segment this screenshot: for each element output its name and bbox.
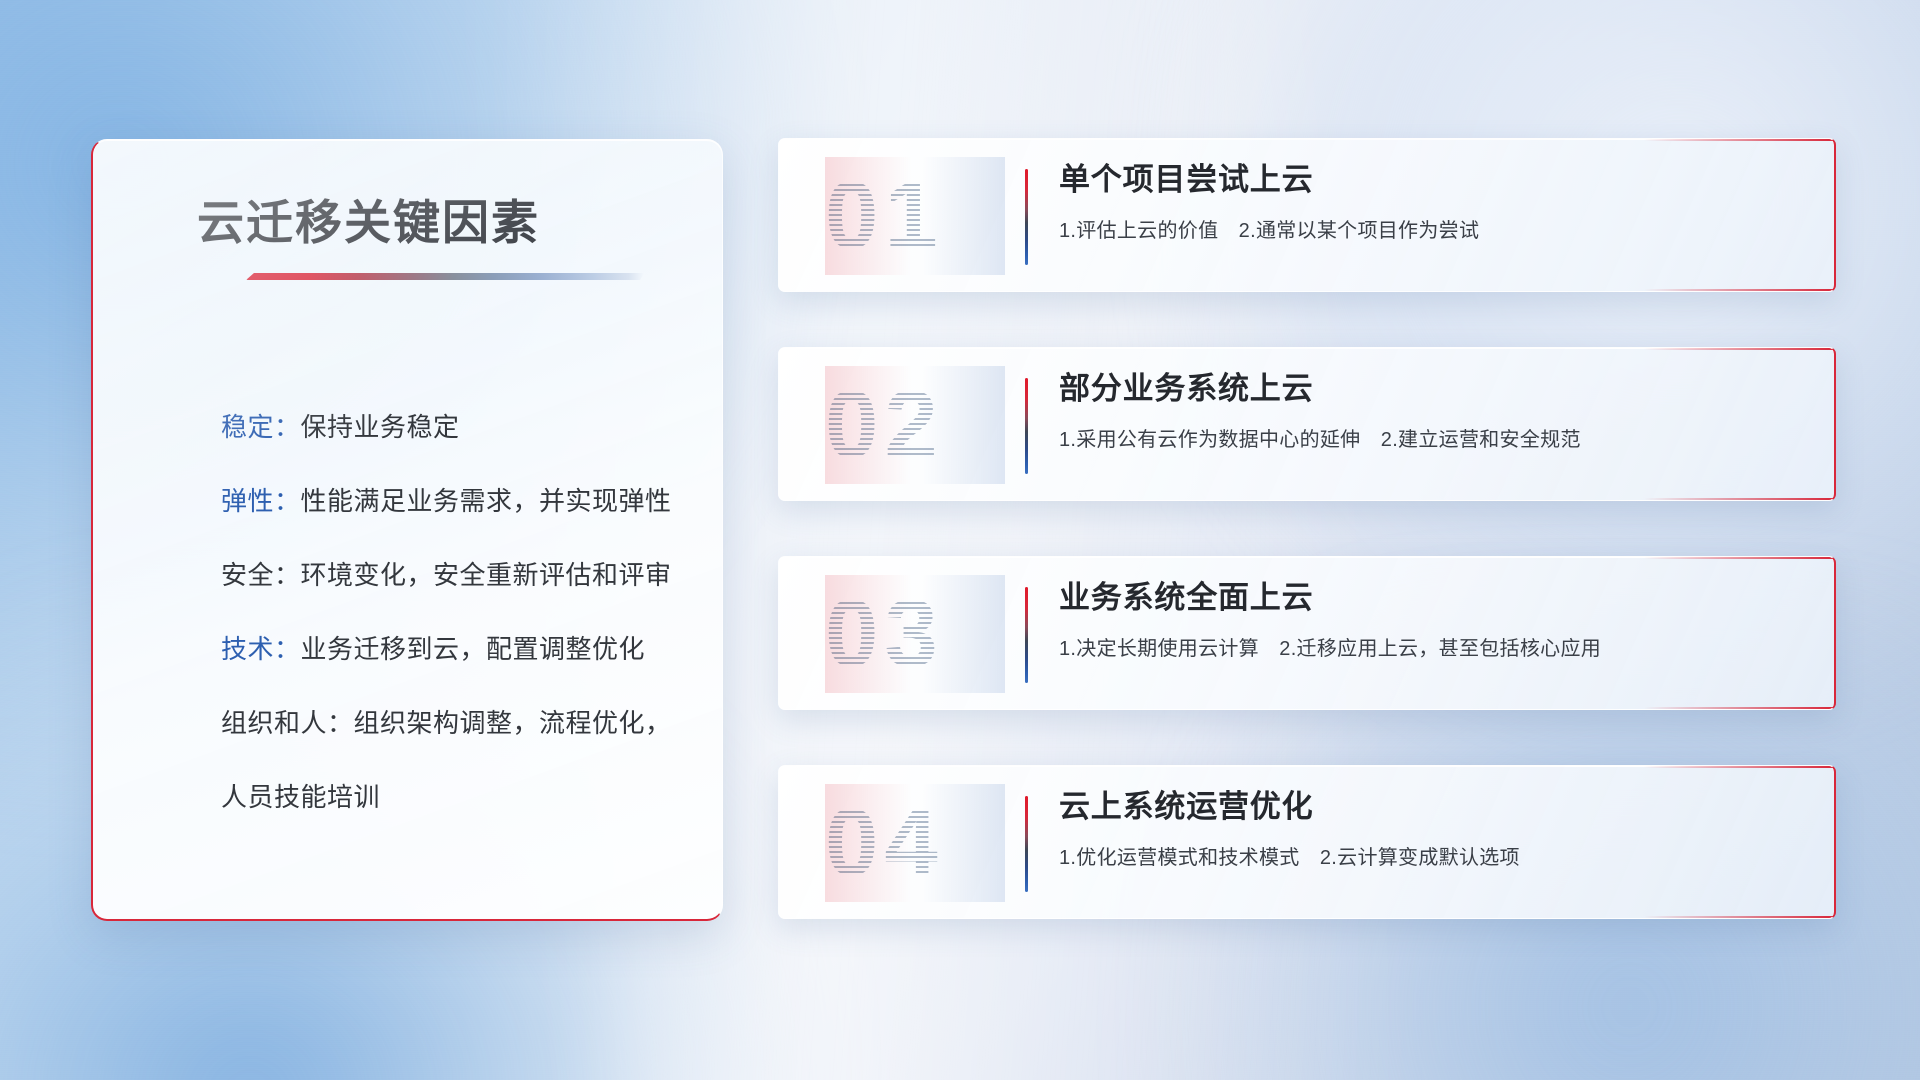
stage-description: 1.评估上云的价值 2.通常以某个项目作为尝试 [1059, 214, 1794, 243]
stage-title: 业务系统全面上云 [1059, 579, 1794, 616]
stage-card-03[interactable]: 03 业务系统全面上云 1.决定长期使用云计算 2.迁移应用上云，甚至包括核心应… [778, 556, 1836, 710]
stage-description: 1.优化运营模式和技术模式 2.云计算变成默认选项 [1059, 841, 1794, 870]
factor-text: 人员技能培训 [221, 782, 380, 812]
list-item: 安全：环境变化，安全重新评估和评审 [221, 538, 684, 612]
stage-card-01[interactable]: 01 单个项目尝试上云 1.评估上云的价值 2.通常以某个项目作为尝试 [778, 138, 1836, 292]
slide-canvas: 云迁移关键因素 稳定：保持业务稳定 弹性：性能满足业务需求，并实现弹性 安全：环… [0, 0, 1920, 1080]
factor-label: 弹性： [221, 486, 301, 516]
factor-text: 组织架构调整，流程优化， [354, 708, 672, 738]
factor-label: 组织和人： [221, 708, 354, 738]
stage-card-body: 业务系统全面上云 1.决定长期使用云计算 2.迁移应用上云，甚至包括核心应用 [1059, 579, 1794, 661]
stage-card-body: 单个项目尝试上云 1.评估上云的价值 2.通常以某个项目作为尝试 [1059, 161, 1794, 243]
stage-description: 1.采用公有云作为数据中心的延伸 2.建立运营和安全规范 [1059, 423, 1794, 452]
accent-bar-icon [1025, 796, 1028, 892]
list-item: 组织和人：组织架构调整，流程优化， [221, 686, 684, 760]
factor-label: 稳定： [221, 412, 301, 442]
list-item: 稳定：保持业务稳定 [221, 390, 684, 464]
stage-title: 云上系统运营优化 [1059, 788, 1794, 825]
list-item: 人员技能培训 [221, 760, 684, 834]
stage-card-02[interactable]: 02 部分业务系统上云 1.采用公有云作为数据中心的延伸 2.建立运营和安全规范 [778, 347, 1836, 501]
stage-number: 04 [825, 784, 1005, 902]
accent-bar-icon [1025, 587, 1028, 683]
key-factors-panel: 云迁移关键因素 稳定：保持业务稳定 弹性：性能满足业务需求，并实现弹性 安全：环… [91, 139, 723, 921]
accent-bar-icon [1025, 169, 1028, 265]
factor-text: 业务迁移到云，配置调整优化 [301, 634, 646, 664]
accent-bar-icon [1025, 378, 1028, 474]
page-title: 云迁移关键因素 [197, 184, 540, 253]
factor-text: 环境变化，安全重新评估和评审 [301, 560, 672, 590]
factor-label: 技术： [221, 634, 301, 664]
stage-card-04[interactable]: 04 云上系统运营优化 1.优化运营模式和技术模式 2.云计算变成默认选项 [778, 765, 1836, 919]
stage-title: 部分业务系统上云 [1059, 370, 1794, 407]
list-item: 技术：业务迁移到云，配置调整优化 [221, 612, 684, 686]
stage-card-body: 云上系统运营优化 1.优化运营模式和技术模式 2.云计算变成默认选项 [1059, 788, 1794, 870]
factor-label: 安全： [221, 560, 301, 590]
stage-description: 1.决定长期使用云计算 2.迁移应用上云，甚至包括核心应用 [1059, 632, 1794, 661]
title-underline-gradient [246, 273, 644, 280]
factor-text: 保持业务稳定 [301, 412, 460, 442]
stage-number: 02 [825, 366, 1005, 484]
stage-number: 03 [825, 575, 1005, 693]
key-factors-list: 稳定：保持业务稳定 弹性：性能满足业务需求，并实现弹性 安全：环境变化，安全重新… [221, 390, 684, 834]
stage-title: 单个项目尝试上云 [1059, 161, 1794, 198]
migration-stages-list: 01 单个项目尝试上云 1.评估上云的价值 2.通常以某个项目作为尝试 02 部… [778, 138, 1836, 974]
factor-text: 性能满足业务需求，并实现弹性 [301, 486, 672, 516]
stage-card-body: 部分业务系统上云 1.采用公有云作为数据中心的延伸 2.建立运营和安全规范 [1059, 370, 1794, 452]
stage-number: 01 [825, 157, 1005, 275]
list-item: 弹性：性能满足业务需求，并实现弹性 [221, 464, 684, 538]
